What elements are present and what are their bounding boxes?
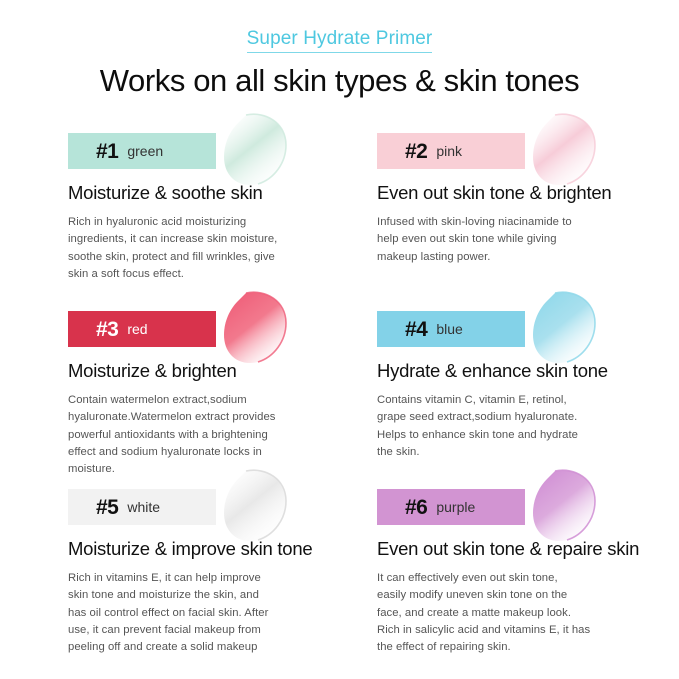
shade-number: #2	[405, 141, 427, 162]
shade-name: green	[127, 144, 163, 158]
shade-description: Rich in hyaluronic acid moisturizing ing…	[68, 214, 333, 283]
shade-heading: Even out skin tone & brighten	[377, 182, 662, 203]
shade-number: #5	[96, 497, 118, 518]
header: Super Hydrate Primer Works on all skin t…	[0, 0, 679, 98]
shade-card: #4 blue Hydrate & enhance skin tone Cont…	[377, 296, 662, 474]
shade-heading: Moisturize & brighten	[68, 360, 353, 381]
shade-card: #3 red Moisturize & brighten Contain wat…	[68, 296, 353, 474]
shade-name: white	[127, 500, 160, 514]
product-brand-title: Super Hydrate Primer	[247, 28, 433, 53]
shade-number: #6	[405, 497, 427, 518]
swatch-smear-icon	[216, 289, 290, 371]
shade-label-bar: #5 white	[68, 489, 216, 525]
shade-label-bar: #6 purple	[377, 489, 525, 525]
swatch-smear-icon	[525, 467, 599, 549]
shade-number: #4	[405, 319, 427, 340]
page-title: Works on all skin types & skin tones	[0, 64, 679, 98]
shade-name: purple	[436, 500, 475, 514]
shade-label-bar: #3 red	[68, 311, 216, 347]
shade-card: #6 purple Even out skin tone & repaire s…	[377, 474, 662, 664]
shade-heading: Hydrate & enhance skin tone	[377, 360, 662, 381]
shade-number: #3	[96, 319, 118, 340]
shade-description: Contains vitamin C, vitamin E, retinol, …	[377, 392, 642, 461]
shade-name: red	[127, 322, 147, 336]
shade-number: #1	[96, 141, 118, 162]
shade-name: blue	[436, 322, 462, 336]
shade-label-bar: #2 pink	[377, 133, 525, 169]
shade-name: pink	[436, 144, 462, 158]
swatch-smear-icon	[216, 111, 290, 193]
shade-description: Infused with skin-loving niacinamide to …	[377, 214, 642, 265]
shade-description: It can effectively even out skin tone, e…	[377, 570, 642, 656]
shade-heading: Moisturize & soothe skin	[68, 182, 353, 203]
shade-description: Contain watermelon extract,sodium hyalur…	[68, 392, 333, 478]
shade-card: #2 pink Even out skin tone & brighten In…	[377, 118, 662, 296]
shade-grid: #1 green Moisturize & soothe skin Rich i…	[0, 118, 679, 664]
shade-label-bar: #4 blue	[377, 311, 525, 347]
shade-label-bar: #1 green	[68, 133, 216, 169]
swatch-smear-icon	[216, 467, 290, 549]
swatch-smear-icon	[525, 289, 599, 371]
shade-description: Rich in vitamins E, it can help improve …	[68, 570, 333, 656]
infographic-page: Super Hydrate Primer Works on all skin t…	[0, 0, 679, 679]
swatch-smear-icon	[525, 111, 599, 193]
shade-heading: Even out skin tone & repaire skin	[377, 538, 662, 559]
shade-heading: Moisturize & improve skin tone	[68, 538, 353, 559]
shade-card: #1 green Moisturize & soothe skin Rich i…	[68, 118, 353, 296]
shade-card: #5 white Moisturize & improve skin tone …	[68, 474, 353, 664]
